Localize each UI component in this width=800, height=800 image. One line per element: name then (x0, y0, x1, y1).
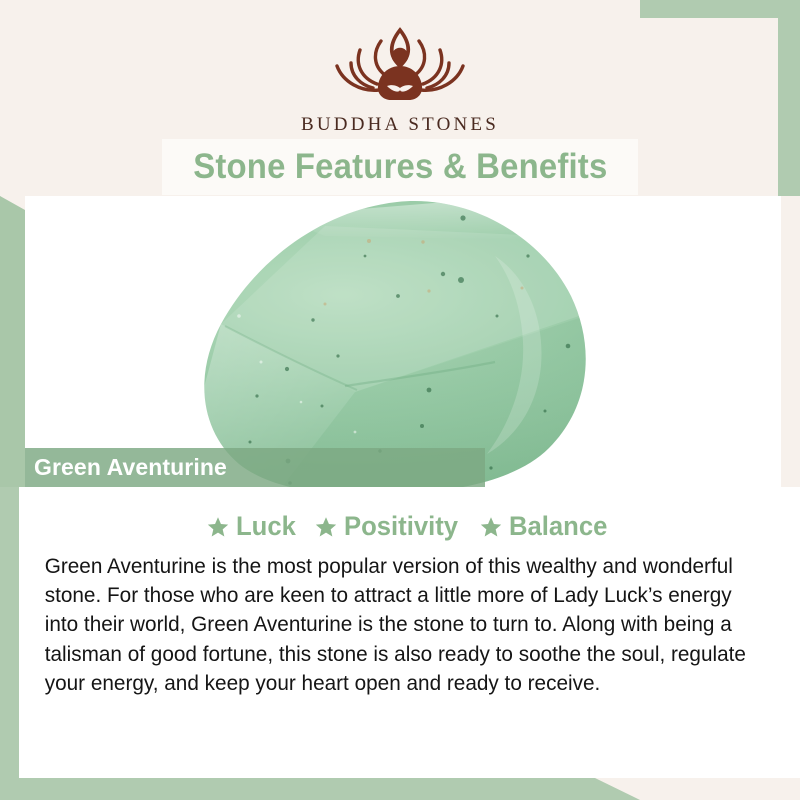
page-title: Stone Features & Benefits (193, 147, 607, 187)
stone-name-text: Green Aventurine (34, 454, 227, 481)
stone-name-label: Green Aventurine (25, 448, 485, 487)
star-icon (480, 516, 502, 538)
lotus-meditation-icon (315, 22, 485, 110)
benefit-item-luck: Luck (207, 511, 299, 542)
accent-left-strip (0, 196, 25, 487)
benefit-label: Balance (509, 511, 607, 542)
benefit-label: Positivity (344, 511, 458, 542)
star-icon (207, 516, 229, 538)
green-aventurine-stone-image (25, 196, 781, 487)
benefit-label: Luck (236, 511, 296, 542)
content-panel: Luck Positivity Balance Green Aventurine… (19, 487, 800, 778)
benefits-list: Luck Positivity Balance (37, 511, 782, 542)
stone-photo: Green Aventurine (25, 196, 781, 487)
page-title-panel: Stone Features & Benefits (162, 139, 638, 195)
header: BUDDHA STONES Stone Features & Benefits (0, 0, 800, 196)
star-icon (315, 516, 337, 538)
benefit-item-balance: Balance (480, 511, 613, 542)
stone-description: Green Aventurine is the most popular ver… (37, 552, 756, 698)
benefit-item-positivity: Positivity (315, 511, 464, 542)
brand-logo: BUDDHA STONES (0, 22, 800, 136)
accent-bottom-band (0, 778, 640, 800)
brand-name: BUDDHA STONES (301, 114, 499, 136)
